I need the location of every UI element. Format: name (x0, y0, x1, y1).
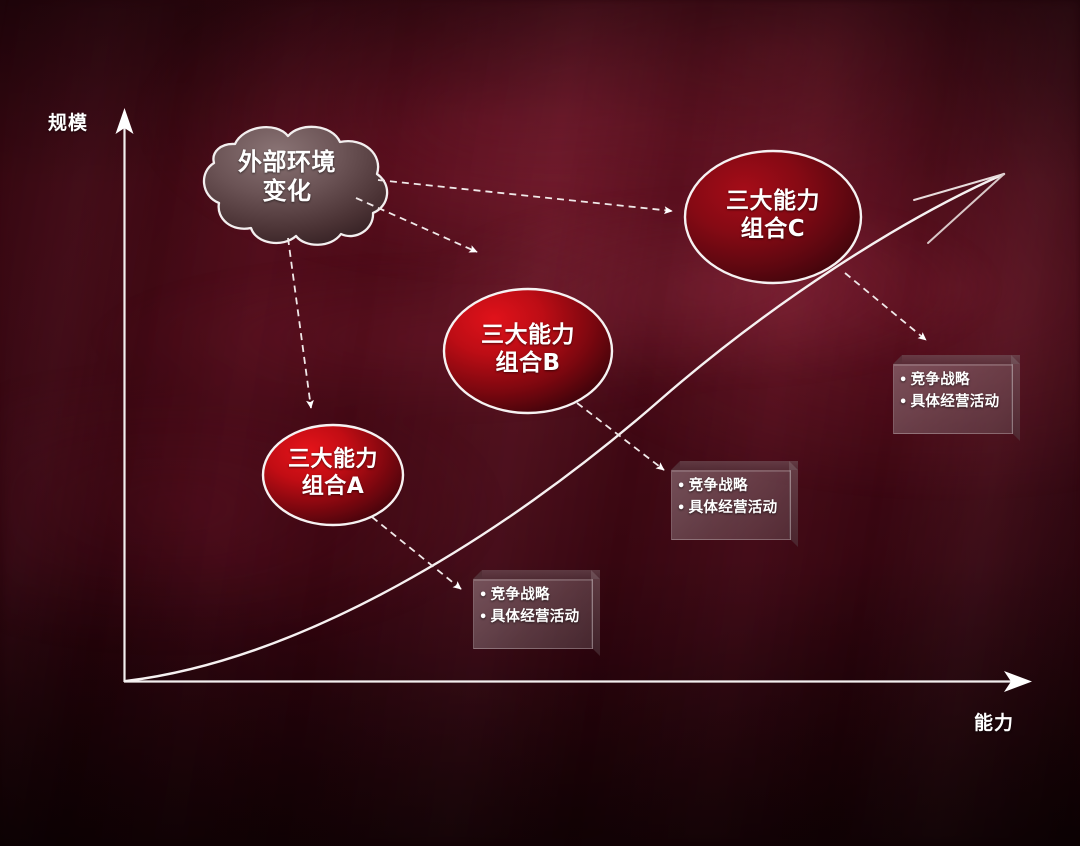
connector-node-c-to-callout-c (845, 273, 926, 340)
callout-c[interactable]: 竞争战略 具体经营活动 (893, 355, 1029, 435)
callout-b-line-2: 具体经营活动 (677, 497, 789, 519)
callout-a-bevel (473, 570, 482, 579)
callout-c-bevel (893, 355, 902, 364)
callout-c-line-2: 具体经营活动 (899, 391, 1011, 413)
callout-a-bullets: 竞争战略 具体经营活动 (479, 584, 591, 629)
axis-x-label: 能力 (974, 708, 1014, 735)
connector-cloud-to-node-c (378, 180, 672, 211)
capability-node-b[interactable] (444, 289, 612, 413)
capability-node-c[interactable] (685, 151, 861, 283)
callout-c-bullets: 竞争战略 具体经营活动 (899, 369, 1011, 414)
connector-node-b-to-callout-b (577, 403, 664, 470)
callout-b[interactable]: 竞争战略 具体经营活动 (671, 461, 807, 541)
callout-a-top-face (482, 570, 600, 579)
callout-b-line-1: 竞争战略 (677, 475, 789, 497)
connector-cloud-to-node-a (288, 238, 311, 408)
callout-a-line-1: 竞争战略 (479, 584, 591, 606)
axis-y (116, 108, 134, 682)
callout-c-top-face (902, 355, 1020, 364)
callout-b-bullets: 竞争战略 具体经营活动 (677, 475, 789, 520)
connector-node-a-to-callout-a (372, 517, 461, 589)
capability-node-a[interactable] (263, 425, 403, 525)
diagram-canvas: 规模 能力 外部环境 变化 三大能力 组合A 三大能力 组合B 三大能力 组合C… (0, 0, 1080, 846)
callout-a-line-2: 具体经营活动 (479, 606, 591, 628)
axis-y-label: 规模 (48, 108, 88, 135)
callout-b-top-face (680, 461, 798, 470)
external-environment-cloud[interactable] (204, 127, 387, 245)
callout-c-line-1: 竞争战略 (899, 369, 1011, 391)
callout-b-bevel (671, 461, 680, 470)
axis-x (124, 671, 1032, 692)
callout-a[interactable]: 竞争战略 具体经营活动 (473, 570, 609, 650)
